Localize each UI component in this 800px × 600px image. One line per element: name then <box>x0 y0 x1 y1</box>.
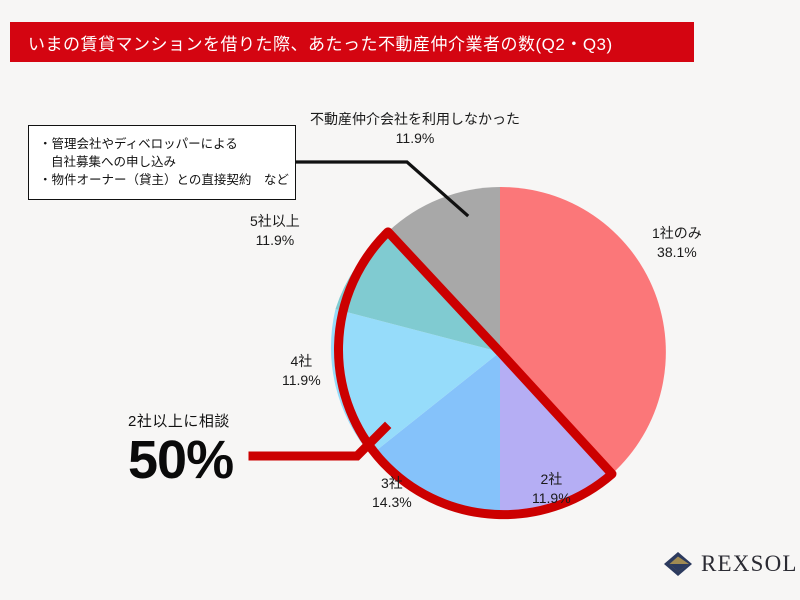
note-line-3: ・物件オーナー（貸主）との直接契約 など <box>39 171 285 189</box>
pie-label-none-pct: 11.9% <box>310 129 520 148</box>
rexsol-logo: REXSOL <box>663 551 798 577</box>
note-callout-box: ・管理会社やディベロッパーによる 自社募集への申し込み ・物件オーナー（貸主）と… <box>28 125 296 200</box>
note-line-1: ・管理会社やディベロッパーによる <box>39 135 285 153</box>
emphasis-callout: 2社以上に相談 50% <box>128 410 233 488</box>
pie-label-three-name: 3社 <box>381 475 403 491</box>
pie-label-five-pct: 11.9% <box>250 231 300 250</box>
pie-label-two-pct: 11.9% <box>532 489 571 508</box>
logo-wordmark: REXSOL <box>701 551 798 577</box>
header-bar: いまの賃貸マンションを借りた際、あたった不動産仲介業者の数(Q2・Q3) <box>10 22 694 62</box>
pie-label-five-name: 5社以上 <box>250 213 300 229</box>
emphasis-value: 50% <box>128 433 233 488</box>
pie-label-none: 不動産仲介会社を利用しなかった 11.9% <box>310 110 520 148</box>
pie-label-four-name: 4社 <box>290 353 312 369</box>
page-title: いまの賃貸マンションを借りた際、あたった不動産仲介業者の数(Q2・Q3) <box>10 30 613 55</box>
emphasis-caption: 2社以上に相談 <box>128 410 233 431</box>
pie-label-four: 4社 11.9% <box>282 352 321 390</box>
pie-label-three-pct: 14.3% <box>372 493 412 512</box>
pie-label-none-name: 不動産仲介会社を利用しなかった <box>310 111 520 127</box>
pie-label-two: 2社 11.9% <box>532 470 571 508</box>
pie-label-one-name: 1社のみ <box>652 225 702 241</box>
pie-label-five: 5社以上 11.9% <box>250 212 300 250</box>
note-line-2: 自社募集への申し込み <box>39 153 285 171</box>
diamond-logo-icon <box>663 551 693 577</box>
pie-label-one-pct: 38.1% <box>652 243 702 262</box>
pie-label-three: 3社 14.3% <box>372 474 412 512</box>
pie-label-two-name: 2社 <box>540 471 562 487</box>
pie-chart-area: 不動産仲介会社を利用しなかった 11.9% 1社のみ 38.1% 2社 11.9… <box>0 62 800 540</box>
pie-label-four-pct: 11.9% <box>282 371 321 390</box>
pie-label-one: 1社のみ 38.1% <box>652 224 702 262</box>
